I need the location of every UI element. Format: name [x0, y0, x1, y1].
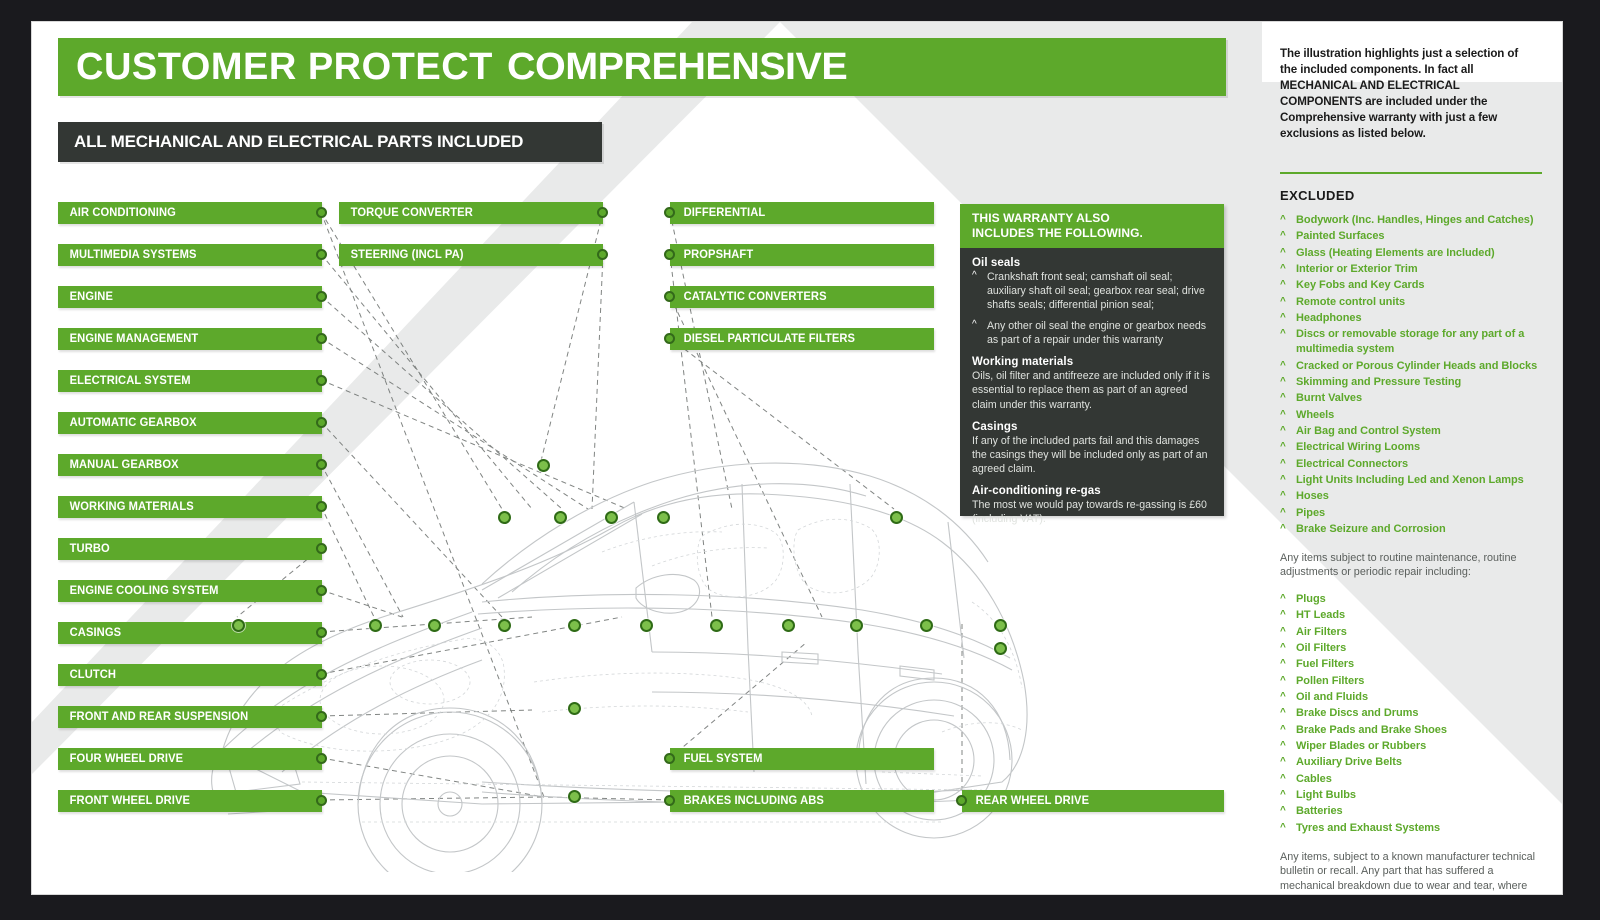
list-item-label: Remote control units [1296, 295, 1405, 310]
subtitle-text: ALL MECHANICAL AND ELECTRICAL PARTS INCL… [74, 132, 523, 152]
label-text: REAR WHEEL DRIVE [962, 795, 1089, 807]
bullet-item: ^ Crankshaft front seal; camshaft oil se… [972, 270, 1212, 312]
chevron-up-icon: ^ [1280, 788, 1289, 802]
subtitle-bar: ALL MECHANICAL AND ELECTRICAL PARTS INCL… [58, 122, 602, 162]
chevron-up-icon: ^ [1280, 674, 1289, 688]
anchor-dot [664, 249, 675, 260]
list-item-label: HT Leads [1296, 608, 1345, 623]
list-item-label: Oil Filters [1296, 641, 1346, 656]
excluded-list-item: ^Air Bag and Control System [1280, 424, 1542, 439]
chevron-up-icon: ^ [1280, 706, 1289, 720]
bullet-text: Any other oil seal the engine or gearbox… [987, 319, 1212, 347]
anchor-dot [316, 627, 327, 638]
poster-frame: CUSTOMER PROTECT COMPREHENSIVE ALL MECHA… [0, 0, 1600, 920]
warranty-heading-line2: INCLUDES THE FOLLOWING. [972, 226, 1212, 241]
hotspot-node[interactable] [568, 619, 581, 632]
label-differential[interactable]: DIFFERENTIAL [670, 202, 934, 224]
list-item-label: Pollen Filters [1296, 674, 1364, 689]
routine-list-item: ^Plugs [1280, 592, 1542, 607]
label-four-wheel-drive[interactable]: FOUR WHEEL DRIVE [58, 748, 322, 770]
label-turbo[interactable]: TURBO [58, 538, 322, 560]
chevron-up-icon: ^ [1280, 440, 1289, 454]
label-text: TORQUE CONVERTER [339, 207, 473, 219]
list-item-label: Pipes [1296, 506, 1325, 521]
chevron-up-icon: ^ [1280, 391, 1289, 405]
list-item-label: Electrical Connectors [1296, 457, 1408, 472]
chevron-up-icon: ^ [1280, 278, 1289, 292]
excluded-list-item: ^Electrical Wiring Looms [1280, 440, 1542, 455]
hotspot-node[interactable] [920, 619, 933, 632]
label-text: STEERING (INCL PA) [339, 249, 464, 261]
anchor-dot [316, 249, 327, 260]
chevron-up-icon: ^ [1280, 359, 1289, 373]
routine-list-item: ^Auxiliary Drive Belts [1280, 755, 1542, 770]
warranty-panel-header: THIS WARRANTY ALSO INCLUDES THE FOLLOWIN… [960, 204, 1224, 248]
chevron-up-icon: ^ [1280, 506, 1289, 520]
excluded-list-item: ^Bodywork (Inc. Handles, Hinges and Catc… [1280, 213, 1542, 228]
anchor-dot [664, 333, 675, 344]
anchor-dot [956, 795, 967, 806]
routine-list-item: ^Pollen Filters [1280, 674, 1542, 689]
routine-list-item: ^Light Bulbs [1280, 788, 1542, 803]
chevron-up-icon: ^ [1280, 424, 1289, 438]
label-text: ENGINE COOLING SYSTEM [58, 585, 219, 597]
list-item-label: Cables [1296, 772, 1332, 787]
chevron-up-icon: ^ [1280, 772, 1289, 786]
chevron-up-icon: ^ [972, 319, 981, 347]
chevron-up-icon: ^ [1280, 262, 1289, 276]
bullet-text: Crankshaft front seal; camshaft oil seal… [987, 270, 1212, 312]
anchor-dot [316, 669, 327, 680]
label-catalytic-converters[interactable]: CATALYTIC CONVERTERS [670, 286, 934, 308]
hotspot-node[interactable] [605, 511, 618, 524]
hotspot-node[interactable] [428, 619, 441, 632]
chevron-up-icon: ^ [1280, 641, 1289, 655]
routine-list-item: ^Oil Filters [1280, 641, 1542, 656]
anchor-dot [316, 333, 327, 344]
routine-list-item: ^Brake Discs and Drums [1280, 706, 1542, 721]
excluded-list-item: ^Burnt Valves [1280, 391, 1542, 406]
hotspot-node[interactable] [232, 619, 245, 632]
anchor-dot [316, 711, 327, 722]
hotspot-node[interactable] [537, 459, 550, 472]
hotspot-node[interactable] [640, 619, 653, 632]
warranty-section-casings: Casings If any of the included parts fai… [972, 421, 1212, 476]
excluded-list-item: ^Wheels [1280, 408, 1542, 423]
chevron-up-icon: ^ [1280, 457, 1289, 471]
label-text: DIFFERENTIAL [670, 207, 765, 219]
excluded-list-item: ^Interior or Exterior Trim [1280, 262, 1542, 277]
routine-list-item: ^Brake Pads and Brake Shoes [1280, 723, 1542, 738]
title-part2: COMPREHENSIVE [507, 48, 847, 86]
chevron-up-icon: ^ [1280, 408, 1289, 422]
chevron-up-icon: ^ [1280, 473, 1289, 487]
anchor-dot [316, 501, 327, 512]
sidebar-divider [1280, 172, 1542, 174]
routine-list-item: ^HT Leads [1280, 608, 1542, 623]
label-text: CLUTCH [58, 669, 116, 681]
list-item-label: Light Bulbs [1296, 788, 1356, 803]
hotspot-node[interactable] [568, 790, 581, 803]
routine-list-item: ^Cables [1280, 772, 1542, 787]
hotspot-node[interactable] [890, 511, 903, 524]
warranty-section-working-materials: Working materials Oils, oil filter and a… [972, 356, 1212, 411]
chevron-up-icon: ^ [1280, 213, 1289, 227]
excluded-list-item: ^Pipes [1280, 506, 1542, 521]
hotspot-node[interactable] [498, 511, 511, 524]
chevron-up-icon: ^ [1280, 755, 1289, 769]
section-body: The most we would pay towards re-gassing… [972, 498, 1212, 526]
hotspot-node[interactable] [554, 511, 567, 524]
routine-list-item: ^Air Filters [1280, 625, 1542, 640]
list-item-label: Air Bag and Control System [1296, 424, 1441, 439]
routine-list-item: ^Wiper Blades or Rubbers [1280, 739, 1542, 754]
anchor-dot [316, 543, 327, 554]
label-text: ELECTRICAL SYSTEM [58, 375, 191, 387]
chevron-up-icon: ^ [1280, 522, 1289, 536]
list-item-label: Fuel Filters [1296, 657, 1354, 672]
hotspot-node[interactable] [369, 619, 382, 632]
anchor-dot [316, 753, 327, 764]
chevron-up-icon: ^ [1280, 821, 1289, 835]
excluded-list-item: ^Electrical Connectors [1280, 457, 1542, 472]
excluded-list-item: ^Glass (Heating Elements are Included) [1280, 246, 1542, 261]
title-part1: CUSTOMER PROTECT [76, 48, 493, 86]
label-text: TURBO [58, 543, 110, 555]
chevron-up-icon: ^ [1280, 739, 1289, 753]
label-text: FRONT WHEEL DRIVE [58, 795, 190, 807]
list-item-label: Skimming and Pressure Testing [1296, 375, 1461, 390]
anchor-dot [316, 291, 327, 302]
routine-intro-text: Any items subject to routine maintenance… [1280, 551, 1542, 580]
excluded-list-item: ^Light Units Including Led and Xenon Lam… [1280, 473, 1542, 488]
bullet-item: ^ Any other oil seal the engine or gearb… [972, 319, 1212, 347]
routine-list-item: ^Oil and Fluids [1280, 690, 1542, 705]
list-item-label: Painted Surfaces [1296, 229, 1384, 244]
excluded-list-item: ^Skimming and Pressure Testing [1280, 375, 1542, 390]
chevron-up-icon: ^ [1280, 375, 1289, 389]
list-item-label: Batteries [1296, 804, 1343, 819]
anchor-dot [316, 417, 327, 428]
label-air-conditioning[interactable]: AIR CONDITIONING [58, 202, 322, 224]
label-casings[interactable]: CASINGS [58, 622, 322, 644]
list-item-label: Hoses [1296, 489, 1329, 504]
warranty-panel: THIS WARRANTY ALSO INCLUDES THE FOLLOWIN… [960, 204, 1224, 516]
list-item-label: Air Filters [1296, 625, 1347, 640]
list-item-label: Bodywork (Inc. Handles, Hinges and Catch… [1296, 213, 1533, 228]
chevron-up-icon: ^ [1280, 608, 1289, 622]
label-steering-incl-pa[interactable]: STEERING (INCL PA) [339, 244, 603, 266]
anchor-dot [316, 585, 327, 596]
label-automatic-gearbox[interactable]: AUTOMATIC GEARBOX [58, 412, 322, 434]
label-brakes-including-abs[interactable]: BRAKES INCLUDING ABS [670, 790, 934, 812]
anchor-dot [664, 753, 675, 764]
anchor-dot [664, 291, 675, 302]
label-text: MULTIMEDIA SYSTEMS [58, 249, 197, 261]
label-text: CATALYTIC CONVERTERS [670, 291, 827, 303]
hotspot-node[interactable] [568, 702, 581, 715]
sidebar-intro-text: The illustration highlights just a selec… [1280, 46, 1542, 142]
anchor-dot [664, 795, 675, 806]
list-item-label: Cracked or Porous Cylinder Heads and Blo… [1296, 359, 1537, 374]
excluded-heading: EXCLUDED [1280, 188, 1542, 203]
hotspot-node[interactable] [710, 619, 723, 632]
list-item-label: Tyres and Exhaust Systems [1296, 821, 1440, 836]
anchor-dot [316, 459, 327, 470]
list-item-label: Plugs [1296, 592, 1326, 607]
chevron-up-icon: ^ [1280, 690, 1289, 704]
warranty-heading-line1: THIS WARRANTY ALSO [972, 211, 1212, 226]
warranty-section-oil-seals: Oil seals ^ Crankshaft front seal; camsh… [972, 257, 1212, 347]
excluded-list-item: ^Cracked or Porous Cylinder Heads and Bl… [1280, 359, 1542, 374]
section-title: Oil seals [972, 257, 1212, 269]
list-item-label: Brake Discs and Drums [1296, 706, 1418, 721]
label-engine[interactable]: ENGINE [58, 286, 322, 308]
chevron-up-icon: ^ [1280, 723, 1289, 737]
list-item-label: Oil and Fluids [1296, 690, 1368, 705]
label-text: FUEL SYSTEM [670, 753, 763, 765]
chevron-up-icon: ^ [1280, 246, 1289, 260]
chevron-up-icon: ^ [1280, 489, 1289, 503]
label-text: DIESEL PARTICULATE FILTERS [670, 333, 855, 345]
label-text: FRONT AND REAR SUSPENSION [58, 711, 248, 723]
excluded-list-item: ^Key Fobs and Key Cards [1280, 278, 1542, 293]
excluded-list-item: ^Hoses [1280, 489, 1542, 504]
list-item-label: Brake Pads and Brake Shoes [1296, 723, 1447, 738]
hotspot-node[interactable] [994, 619, 1007, 632]
label-propshaft[interactable]: PROPSHAFT [670, 244, 934, 266]
label-working-materials[interactable]: WORKING MATERIALS [58, 496, 322, 518]
routine-list-item: ^Fuel Filters [1280, 657, 1542, 672]
label-text: AIR CONDITIONING [58, 207, 176, 219]
list-item-label: Brake Seizure and Corrosion [1296, 522, 1446, 537]
poster-page: CUSTOMER PROTECT COMPREHENSIVE ALL MECHA… [32, 22, 1562, 894]
excluded-list-item: ^Headphones [1280, 311, 1542, 326]
hotspot-node[interactable] [782, 619, 795, 632]
anchor-dot [316, 207, 327, 218]
list-item-label: Electrical Wiring Looms [1296, 440, 1420, 455]
label-text: MANUAL GEARBOX [58, 459, 179, 471]
label-engine-cooling-system[interactable]: ENGINE COOLING SYSTEM [58, 580, 322, 602]
list-item-label: Glass (Heating Elements are Included) [1296, 246, 1495, 261]
hotspot-node[interactable] [850, 619, 863, 632]
list-item-label: Wiper Blades or Rubbers [1296, 739, 1426, 754]
list-item-label: Burnt Valves [1296, 391, 1362, 406]
label-fuel-system[interactable]: FUEL SYSTEM [670, 748, 934, 770]
hotspot-node[interactable] [498, 619, 511, 632]
anchor-dot [597, 249, 608, 260]
main-title-bar: CUSTOMER PROTECT COMPREHENSIVE [58, 38, 1226, 96]
hotspot-node[interactable] [657, 511, 670, 524]
chevron-up-icon: ^ [1280, 295, 1289, 309]
excluded-list-item: ^Painted Surfaces [1280, 229, 1542, 244]
label-text: ENGINE [58, 291, 113, 303]
label-electrical-system[interactable]: ELECTRICAL SYSTEM [58, 370, 322, 392]
label-text: FOUR WHEEL DRIVE [58, 753, 183, 765]
label-manual-gearbox[interactable]: MANUAL GEARBOX [58, 454, 322, 476]
warranty-section-air-conditioning-re-gas: Air-conditioning re-gas The most we woul… [972, 485, 1212, 526]
footnote-1: Any items, subject to a known manufactur… [1280, 850, 1542, 894]
label-rear-wheel-drive[interactable]: REAR WHEEL DRIVE [962, 790, 1224, 812]
anchor-dot [316, 795, 327, 806]
list-item-label: Headphones [1296, 311, 1362, 326]
section-title: Casings [972, 421, 1212, 433]
label-text: BRAKES INCLUDING ABS [670, 795, 824, 807]
excluded-list-item: ^Discs or removable storage for any part… [1280, 327, 1542, 357]
label-text: PROPSHAFT [670, 249, 753, 261]
chevron-up-icon: ^ [1280, 657, 1289, 671]
hotspot-node[interactable] [994, 642, 1007, 655]
chevron-up-icon: ^ [1280, 592, 1289, 606]
list-item-label: Wheels [1296, 408, 1334, 423]
list-item-label: Key Fobs and Key Cards [1296, 278, 1425, 293]
chevron-up-icon: ^ [1280, 327, 1289, 341]
label-clutch[interactable]: CLUTCH [58, 664, 322, 686]
routine-list-item: ^Tyres and Exhaust Systems [1280, 821, 1542, 836]
chevron-up-icon: ^ [1280, 625, 1289, 639]
list-item-label: Discs or removable storage for any part … [1296, 327, 1542, 357]
excluded-list-item: ^Remote control units [1280, 295, 1542, 310]
anchor-dot [664, 207, 675, 218]
chevron-up-icon: ^ [1280, 804, 1289, 818]
list-item-label: Interior or Exterior Trim [1296, 262, 1418, 277]
label-multimedia-systems[interactable]: MULTIMEDIA SYSTEMS [58, 244, 322, 266]
label-diesel-particulate-filters[interactable]: DIESEL PARTICULATE FILTERS [670, 328, 934, 350]
anchor-dot [597, 207, 608, 218]
label-text: AUTOMATIC GEARBOX [58, 417, 197, 429]
label-text: WORKING MATERIALS [58, 501, 194, 513]
excluded-list: ^Bodywork (Inc. Handles, Hinges and Catc… [1280, 213, 1542, 537]
section-body: If any of the included parts fail and th… [972, 434, 1212, 476]
list-item-label: Light Units Including Led and Xenon Lamp… [1296, 473, 1524, 488]
list-item-label: Auxiliary Drive Belts [1296, 755, 1402, 770]
chevron-up-icon: ^ [1280, 311, 1289, 325]
anchor-dot [316, 375, 327, 386]
label-front-and-rear-suspension[interactable]: FRONT AND REAR SUSPENSION [58, 706, 322, 728]
routine-maintenance-list: ^Plugs^HT Leads^Air Filters^Oil Filters^… [1280, 592, 1542, 836]
section-title: Working materials [972, 356, 1212, 368]
label-front-wheel-drive[interactable]: FRONT WHEEL DRIVE [58, 790, 322, 812]
chevron-up-icon: ^ [1280, 229, 1289, 243]
section-title: Air-conditioning re-gas [972, 485, 1212, 497]
label-text: ENGINE MANAGEMENT [58, 333, 198, 345]
chevron-up-icon: ^ [972, 270, 981, 312]
label-torque-converter[interactable]: TORQUE CONVERTER [339, 202, 603, 224]
label-engine-management[interactable]: ENGINE MANAGEMENT [58, 328, 322, 350]
warranty-panel-body: Oil seals ^ Crankshaft front seal; camsh… [960, 248, 1224, 545]
routine-list-item: ^Batteries [1280, 804, 1542, 819]
label-text: CASINGS [58, 627, 121, 639]
excluded-list-item: ^Brake Seizure and Corrosion [1280, 522, 1542, 537]
right-sidebar: The illustration highlights just a selec… [1280, 40, 1542, 880]
section-body: Oils, oil filter and antifreeze are incl… [972, 369, 1212, 411]
